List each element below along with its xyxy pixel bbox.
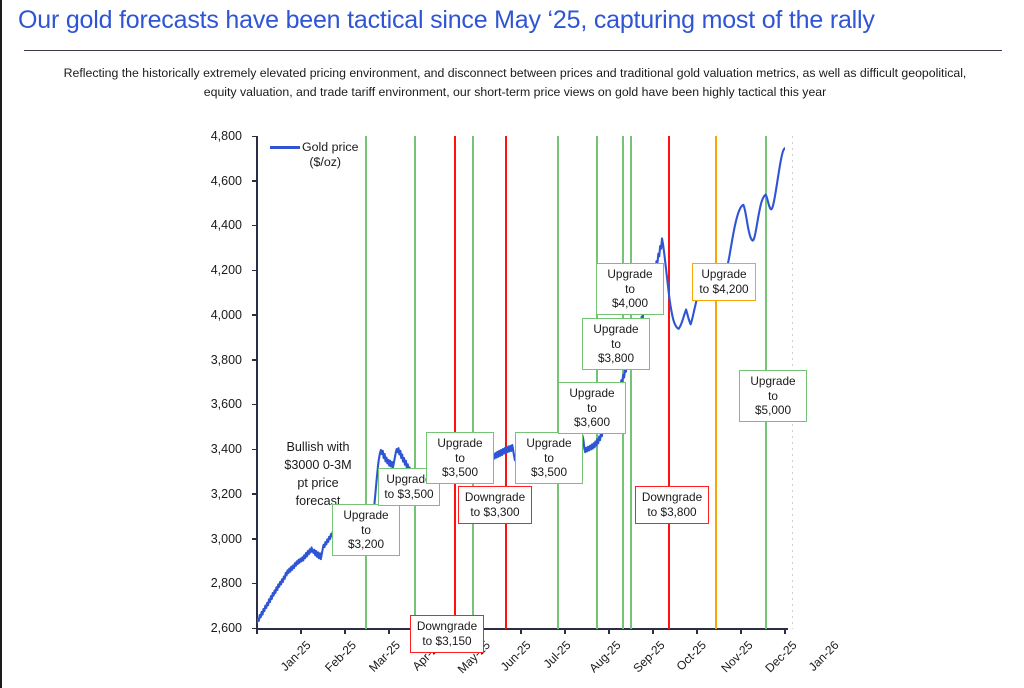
x-tick-mark <box>608 628 610 634</box>
legend-row: Gold price <box>270 140 358 155</box>
legend-label: Gold price <box>302 140 358 155</box>
y-tick-label: 3,800 <box>182 353 242 367</box>
x-tick-label: Mar-25 <box>366 638 403 675</box>
annotation-upgrade: Upgrade to $3,800 <box>582 318 650 370</box>
page-title: Our gold forecasts have been tactical si… <box>18 6 1018 35</box>
x-tick-label: Jan-26 <box>806 638 842 674</box>
x-tick-mark <box>564 628 566 634</box>
x-tick-mark <box>344 628 346 634</box>
y-tick-label: 2,800 <box>182 576 242 590</box>
x-tick-label: Dec-25 <box>762 638 799 675</box>
x-tick-mark <box>740 628 742 634</box>
page-subtitle: Reflecting the historically extremely el… <box>50 64 980 102</box>
x-axis <box>256 628 788 630</box>
x-tick-label: Aug-25 <box>586 638 623 675</box>
x-tick-mark <box>388 628 390 634</box>
y-tick-label: 3,400 <box>182 442 242 456</box>
y-tick-label: 3,200 <box>182 487 242 501</box>
slide-root: Our gold forecasts have been tactical si… <box>2 0 1024 688</box>
x-tick-mark <box>696 628 698 634</box>
y-tick-label: 2,600 <box>182 621 242 635</box>
annotation-upgrade: Upgrade to $3,500 <box>426 432 494 484</box>
y-tick-label: 3,600 <box>182 397 242 411</box>
x-tick-mark <box>784 628 786 634</box>
gold-price-chart: 4,8004,6004,4004,2004,0003,8003,6003,400… <box>2 118 1024 688</box>
x-tick-label: Nov-25 <box>718 638 755 675</box>
x-tick-label: Oct-25 <box>674 638 709 673</box>
title-divider <box>24 50 1002 51</box>
annotation-upgrade: Upgrade to $3,200 <box>332 504 400 556</box>
y-tick-label: 4,600 <box>182 174 242 188</box>
x-tick-label: Sep-25 <box>630 638 667 675</box>
annotation-neutral: Upgrade to $4,200 <box>692 263 756 301</box>
y-tick-label: 4,000 <box>182 308 242 322</box>
x-tick-label: Jun-25 <box>498 638 534 674</box>
bullish-forecast-note: Bullish with $3000 0-3M pt price forecas… <box>258 438 378 510</box>
annotation-upgrade: Upgrade to $4,000 <box>596 263 664 315</box>
annotation-upgrade: Upgrade to $3,600 <box>558 382 626 434</box>
y-tick-label: 4,800 <box>182 129 242 143</box>
x-tick-label: Feb-25 <box>322 638 359 675</box>
annotation-downgrade: Downgrade to $3,300 <box>458 486 532 524</box>
legend-swatch-gold-price <box>270 146 300 149</box>
annotation-upgrade: Upgrade to $5,000 <box>739 370 807 422</box>
y-tick-label: 4,400 <box>182 218 242 232</box>
chart-legend: Gold price ($/oz) <box>270 140 358 170</box>
annotation-downgrade: Downgrade to $3,800 <box>635 486 709 524</box>
annotation-downgrade: Downgrade to $3,150 <box>410 615 484 653</box>
x-tick-mark <box>300 628 302 634</box>
x-tick-mark <box>520 628 522 634</box>
y-tick-label: 3,000 <box>182 532 242 546</box>
legend-sublabel: ($/oz) <box>270 155 358 170</box>
annotation-upgrade: Upgrade to $3,500 <box>515 432 583 484</box>
x-tick-label: Jan-25 <box>278 638 314 674</box>
x-tick-label: Jul-25 <box>541 638 574 671</box>
y-tick-label: 4,200 <box>182 263 242 277</box>
x-tick-mark <box>652 628 654 634</box>
x-tick-mark <box>256 628 258 634</box>
